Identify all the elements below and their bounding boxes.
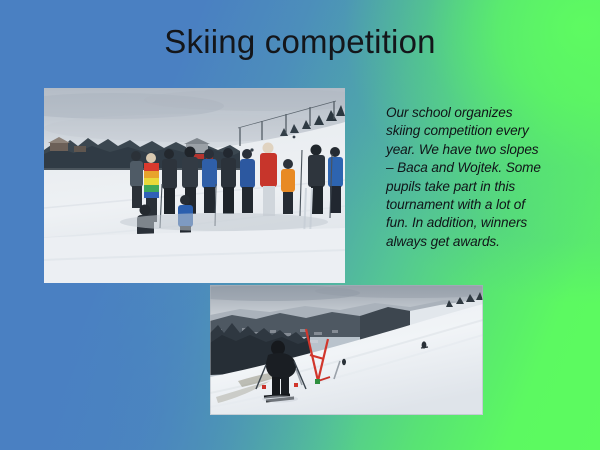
photo-skier-on-slalom-course xyxy=(210,285,483,415)
photo-group-of-young-skiers xyxy=(44,88,345,283)
page-title: Skiing competition xyxy=(0,22,600,62)
photo-group-of-young-skiers-image xyxy=(44,88,345,283)
body-paragraph: Our school organizes skiing competition … xyxy=(386,104,548,251)
photo-skier-on-slalom-course-image xyxy=(210,285,483,415)
presentation-slide: Skiing competition Our school organizes … xyxy=(0,0,600,450)
